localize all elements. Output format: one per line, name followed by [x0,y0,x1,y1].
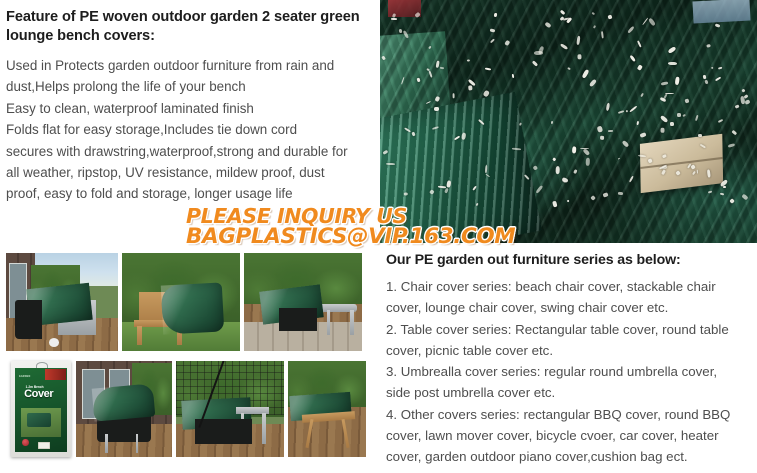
series-line: cover, lawn mover cover, bicycle cvoer, … [386,425,756,446]
chairs-under-cover [195,419,251,444]
series-body: 1. Chair cover series: beach chair cover… [386,276,756,468]
product-photo-collage: GARDEN 1.2m Bench Cover [0,247,378,473]
feature-body: Used in Protects garden outdoor furnitur… [6,55,372,205]
bench-leg [137,326,142,346]
package-corner-flash [45,369,66,379]
page-root: Feature of PE woven outdoor garden 2 sea… [0,0,757,473]
feature-line: Folds flat for easy storage,Includes tie… [6,119,372,140]
tie-cord [416,78,419,82]
cover-shadow-fold [15,300,42,339]
series-line: 3. Umbrealla cover series: regular round… [386,361,756,382]
feature-heading: Feature of PE woven outdoor garden 2 sea… [6,8,368,46]
chair-leg [136,434,139,453]
tie-cord [670,122,674,126]
series-line: 4. Other covers series: rectangular BBQ … [386,404,756,425]
retail-package: GARDEN 1.2m Bench Cover [11,361,71,457]
tie-cord [677,113,681,117]
tie-cord [461,132,466,140]
watermark-line-2: BAGPLASTICS@VIP.163.COM [186,226,515,247]
series-line: cover, lounge chair cover, swing chair c… [386,297,756,318]
watermark-overlay: PLEASE INQUIRY US BAGPLASTICS@VIP.163.CO… [186,206,515,247]
collage-photo-chairs-cover [76,361,172,457]
lamp-globe [49,338,59,347]
series-text-panel: Our PE garden out furniture series as be… [380,243,757,473]
collage-photo-picnic-table-cover [288,361,366,457]
chairs-under-cover [279,308,317,332]
table-leg [327,310,331,335]
feature-line: secures with drawstring,waterproof,stron… [6,141,372,162]
warehouse-sky-sliver [692,0,750,23]
tie-cord [600,135,604,139]
tie-cord [580,147,589,149]
chair-leg [105,434,108,453]
series-line: cover, picnic table cover etc. [386,340,756,361]
tie-cord [668,61,677,65]
green-cover [92,383,156,421]
tie-cord [585,159,589,167]
series-line: 2. Table cover series: Rectangular table… [386,319,756,340]
feature-line: Easy to clean, waterproof laminated fini… [6,98,372,119]
package-barcode-tag [38,442,50,449]
cardboard-box [640,133,723,192]
package-brand-label: GARDEN [19,375,31,378]
table-leg [350,310,354,335]
series-line: cover, garden outdoor piano cover,cushio… [386,446,756,467]
tie-cord [684,98,689,103]
tie-cord [468,85,472,90]
tie-cord [453,93,455,98]
feature-line: Used in Protects garden outdoor furnitur… [6,55,372,76]
table-leg [262,413,265,444]
feature-line: proof, easy to fold and storage, longer … [6,183,372,204]
series-line: side post umbrella cover etc. [386,382,756,403]
series-heading: Our PE garden out furniture series as be… [386,251,752,269]
tie-cord [698,134,702,137]
series-line: 1. Chair cover series: beach chair cover… [386,276,756,297]
package-product-photo [21,408,61,437]
green-cover [161,283,225,335]
tie-cord [512,147,521,149]
package-front: GARDEN 1.2m Bench Cover [15,368,68,452]
feature-line: all weather, ripstop, UV resistance, mil… [6,162,372,183]
package-berry-graphic [22,439,29,447]
tie-cord [608,130,613,132]
collage-photo-table-cover [244,253,362,351]
package-title: Cover [24,389,53,400]
tie-cord [707,170,711,178]
collage-photo-bbq-cover [6,253,118,351]
feature-line: dust,Helps prolong the life of your benc… [6,76,372,97]
tie-cord [391,18,397,20]
collage-photo-table-chairs-cover [176,361,284,457]
collage-photo-bench-cover [122,253,240,351]
